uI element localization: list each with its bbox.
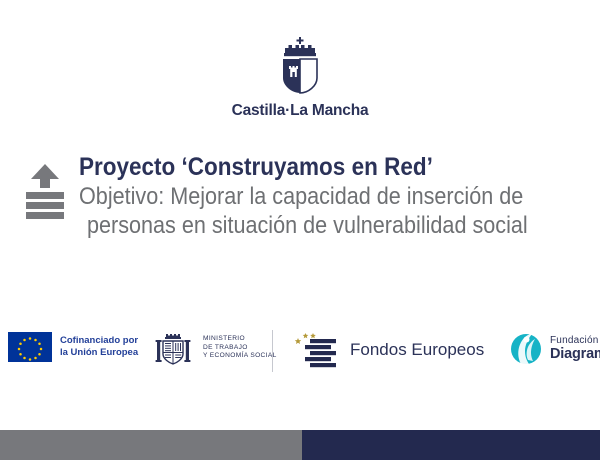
objective-line-2: personas en situación de vulnerabilidad …: [87, 211, 528, 240]
objective-line-1: Objetivo: Mejorar la capacidad de inserc…: [79, 182, 527, 211]
slide-canvas: Castilla·La Mancha Proyecto ‘Construyamo…: [0, 0, 600, 460]
fundacion-diagrama-logo: Fundación Diagrama: [508, 330, 600, 368]
fondos-europeos-label: Fondos Europeos: [350, 340, 484, 360]
castilla-la-mancha-logo: Castilla·La Mancha: [0, 36, 600, 120]
project-title: Proyecto ‘Construyamos en Red’: [79, 152, 527, 182]
european-union-flag-icon: [8, 332, 52, 362]
bottom-bar-gray: [0, 430, 302, 460]
castilla-la-mancha-wordmark: Castilla·La Mancha: [232, 102, 369, 120]
spain-coat-of-arms-icon: [152, 328, 196, 368]
castilla-la-mancha-shield-icon: [272, 36, 328, 98]
ministry-label-line-1: MINISTERIO: [203, 335, 245, 342]
footer-logo-strip: Cofinanciado por la Unión Europea: [0, 322, 600, 382]
logo-divider: [272, 330, 273, 372]
eu-label-line-1: Cofinanciado por: [60, 335, 138, 346]
fondos-europeos-bars-icon: [294, 330, 340, 370]
arrow-up-over-bars-icon: [23, 162, 67, 220]
eu-label-line-2: la Unión Europea: [60, 347, 138, 358]
fundacion-diagrama-swirl-icon: [508, 330, 544, 368]
bottom-bar-navy: [302, 430, 600, 460]
european-union-logo: Cofinanciado por la Unión Europea: [8, 332, 138, 362]
ministry-logo: MINISTERIO DE TRABAJO Y ECONOMÍA SOCIAL: [152, 328, 277, 368]
fundacion-diagrama-label: Fundación Diagrama: [550, 336, 600, 362]
diagrama-label-line-2: Diagrama: [550, 347, 600, 362]
ministry-label-line-2: DE TRABAJO: [203, 344, 248, 351]
ministry-label: MINISTERIO DE TRABAJO Y ECONOMÍA SOCIAL: [203, 335, 277, 361]
ministry-label-line-3: Y ECONOMÍA SOCIAL: [203, 352, 277, 359]
fondos-europeos-logo: Fondos Europeos: [294, 330, 484, 370]
european-union-label: Cofinanciado por la Unión Europea: [60, 335, 138, 359]
project-title-block: Proyecto ‘Construyamos en Red’ Objetivo:…: [0, 152, 600, 240]
diagrama-label-line-1: Fundación: [550, 336, 600, 346]
bottom-color-bars: [0, 430, 600, 460]
